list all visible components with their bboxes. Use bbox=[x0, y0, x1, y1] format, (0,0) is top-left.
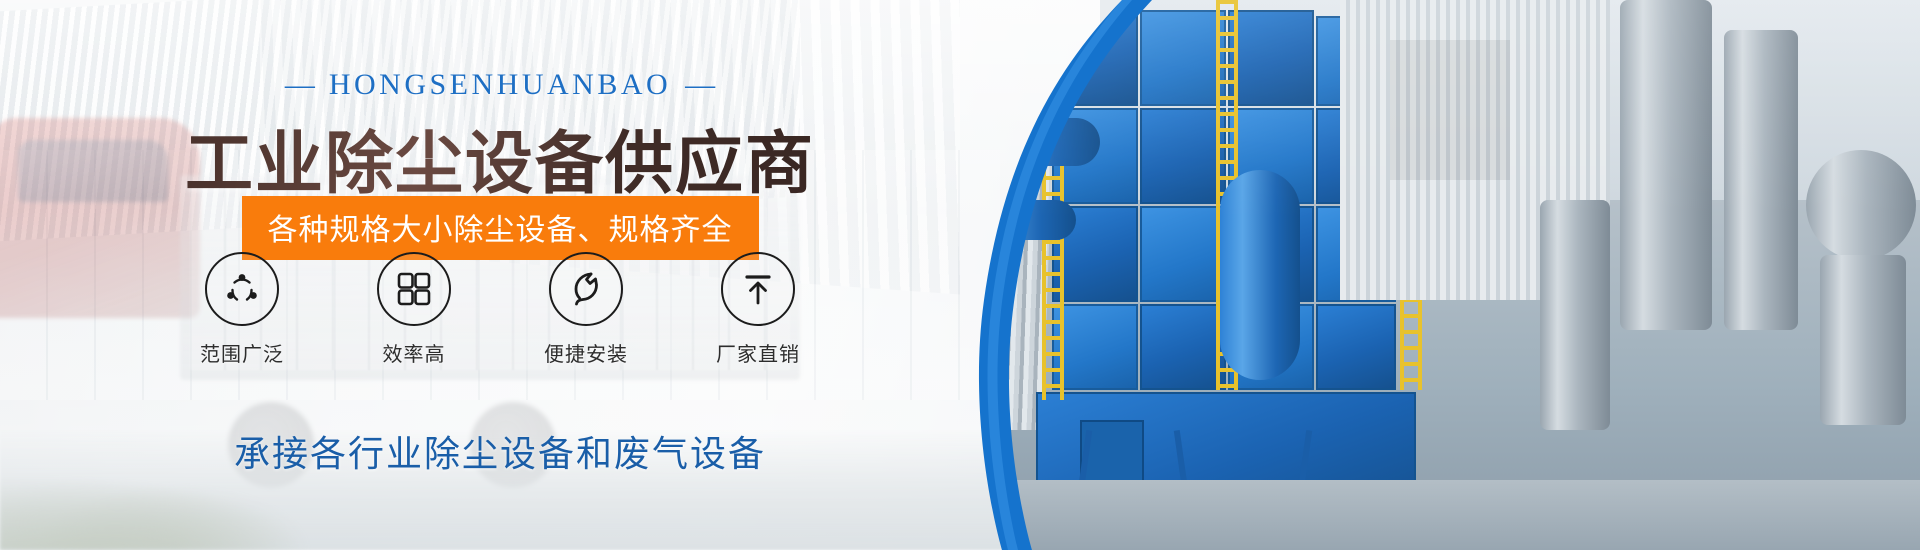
subheadline-orange-bar: 各种规格大小除尘设备、规格齐全 bbox=[242, 196, 759, 260]
feature-label: 厂家直销 bbox=[703, 338, 813, 367]
feature-label: 范围广泛 bbox=[187, 338, 297, 367]
eyebrow-dash-left: — bbox=[271, 68, 329, 101]
feature-icon-circle bbox=[377, 252, 451, 326]
feature-label: 效率高 bbox=[359, 338, 469, 367]
feature-item-factory-direct[interactable]: 厂家直销 bbox=[703, 252, 813, 367]
feature-icon-circle bbox=[549, 252, 623, 326]
feature-label: 便捷安装 bbox=[531, 338, 641, 367]
subheadline-wrapper: 各种规格大小除尘设备、规格齐全 bbox=[0, 196, 1000, 260]
wrench-icon bbox=[565, 268, 607, 310]
page-title: 工业除尘设备供应商 bbox=[0, 108, 1000, 207]
feature-icon-circle bbox=[205, 252, 279, 326]
banner-content: —HONGSENHUANBAO— 工业除尘设备供应商 各种规格大小除尘设备、规格… bbox=[0, 0, 1100, 550]
feature-icon-circle bbox=[721, 252, 795, 326]
grid-four-squares-icon bbox=[395, 270, 433, 308]
eyebrow-text: HONGSENHUANBAO bbox=[329, 68, 671, 101]
banner-tagline: 承接各行业除尘设备和废气设备 bbox=[0, 425, 1000, 477]
feature-item-easy-install[interactable]: 便捷安装 bbox=[531, 252, 641, 367]
feature-list: 范围广泛 效率高 bbox=[0, 252, 1000, 367]
feature-item-wide-range[interactable]: 范围广泛 bbox=[187, 252, 297, 367]
eyebrow-dash-right: — bbox=[671, 68, 729, 101]
arrow-up-bar-icon bbox=[739, 270, 777, 308]
feature-item-high-efficiency[interactable]: 效率高 bbox=[359, 252, 469, 367]
eyebrow-brand-pinyin: —HONGSENHUANBAO— bbox=[0, 68, 1000, 102]
hero-banner: —HONGSENHUANBAO— 工业除尘设备供应商 各种规格大小除尘设备、规格… bbox=[0, 0, 1920, 550]
network-share-icon bbox=[222, 269, 262, 309]
